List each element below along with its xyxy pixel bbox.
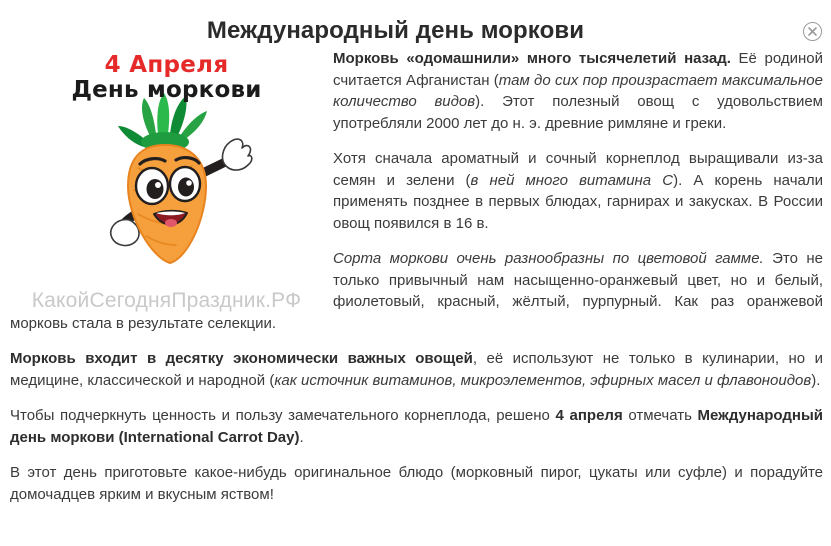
italic-run: как источник витаминов, микроэлементов, …: [274, 372, 811, 389]
article-body: 4 Апреля День моркови: [0, 48, 831, 505]
watermark-text: КакойСегодняПраздник.РФ: [10, 290, 323, 312]
close-button[interactable]: [803, 22, 822, 41]
bold-run: Морковь входит в десятку экономически ва…: [10, 350, 473, 367]
carrot-illustration: 4 Апреля День моркови: [10, 52, 323, 305]
bold-run: 4 апреля: [556, 407, 623, 424]
page-title: Международный день моркови: [0, 14, 831, 48]
illustration-subtitle-label: День моркови: [10, 77, 323, 104]
italic-run: в ней много витамина С: [471, 172, 674, 189]
text-run: В этот день приготовьте какое-нибудь ори…: [10, 464, 823, 503]
text-run: ).: [811, 372, 820, 389]
bold-run: Морковь «одомашнили» много тысячелетий н…: [333, 50, 731, 67]
illustration-caption: 4 Апреля День моркови: [10, 52, 323, 104]
text-run: Чтобы подчеркнуть ценность и пользу заме…: [10, 407, 556, 424]
illustration-date-label: 4 Апреля: [10, 52, 323, 78]
close-icon: [807, 26, 818, 37]
article-paragraph: Чтобы подчеркнуть ценность и пользу заме…: [10, 405, 823, 448]
article-paragraph: В этот день приготовьте какое-нибудь ори…: [10, 462, 823, 505]
text-run: .: [299, 429, 303, 446]
carrot-mascot-icon: [88, 90, 253, 265]
text-run: отмечать: [623, 407, 698, 424]
italic-run: Сорта моркови очень разнообразны по цвет…: [333, 250, 764, 267]
article-paragraph: Морковь входит в десятку экономически ва…: [10, 348, 823, 391]
